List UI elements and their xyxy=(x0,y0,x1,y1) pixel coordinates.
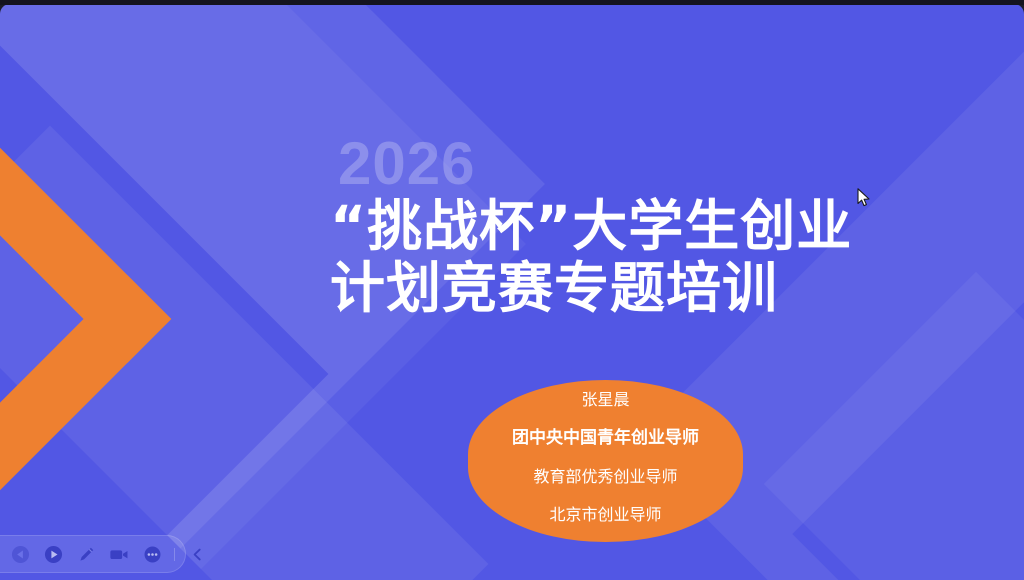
chevron-left-icon xyxy=(189,546,206,563)
video-player[interactable]: 2026 “挑战杯”大学生创业 计划竞赛专题培训 张星晨 团中央中国青年创业导师… xyxy=(0,0,1024,580)
record-button[interactable] xyxy=(108,543,130,565)
player-toolbar[interactable] xyxy=(0,535,186,573)
rewind-button[interactable] xyxy=(9,543,31,565)
play-button[interactable] xyxy=(42,543,64,565)
toolbar-divider xyxy=(174,548,175,561)
chevron-left-notch-mask-lower xyxy=(0,188,216,580)
collapse-button[interactable] xyxy=(186,543,208,565)
chevron-right-arrow-icon xyxy=(0,93,171,546)
slide-title-line-2: 计划竞赛专题培训 xyxy=(330,258,930,320)
speaker-name: 张星晨 xyxy=(581,392,629,408)
more-dots-icon xyxy=(143,545,162,564)
player-top-bezel xyxy=(0,0,1024,5)
play-circle-icon xyxy=(44,545,63,564)
slide-year: 2026 xyxy=(338,134,475,194)
speaker-title-3: 北京市创业导师 xyxy=(549,507,661,523)
speaker-title-2: 教育部优秀创业导师 xyxy=(533,469,677,485)
annotate-button[interactable] xyxy=(75,543,97,565)
slide-title-line-1: “挑战杯”大学生创业 xyxy=(330,196,930,258)
slide-stage: 2026 “挑战杯”大学生创业 计划竞赛专题培训 张星晨 团中央中国青年创业导师… xyxy=(0,4,1024,580)
pencil-icon xyxy=(77,545,96,564)
speaker-badge: 张星晨 团中央中国青年创业导师 教育部优秀创业导师 北京市创业导师 xyxy=(468,380,743,542)
more-button[interactable] xyxy=(141,543,163,565)
slide-title: “挑战杯”大学生创业 计划竞赛专题培训 xyxy=(330,196,930,319)
rewind-icon xyxy=(11,545,30,564)
video-camera-icon xyxy=(109,545,129,564)
chevron-left-notch-mask xyxy=(0,4,328,580)
speaker-title-1: 团中央中国青年创业导师 xyxy=(512,430,699,447)
